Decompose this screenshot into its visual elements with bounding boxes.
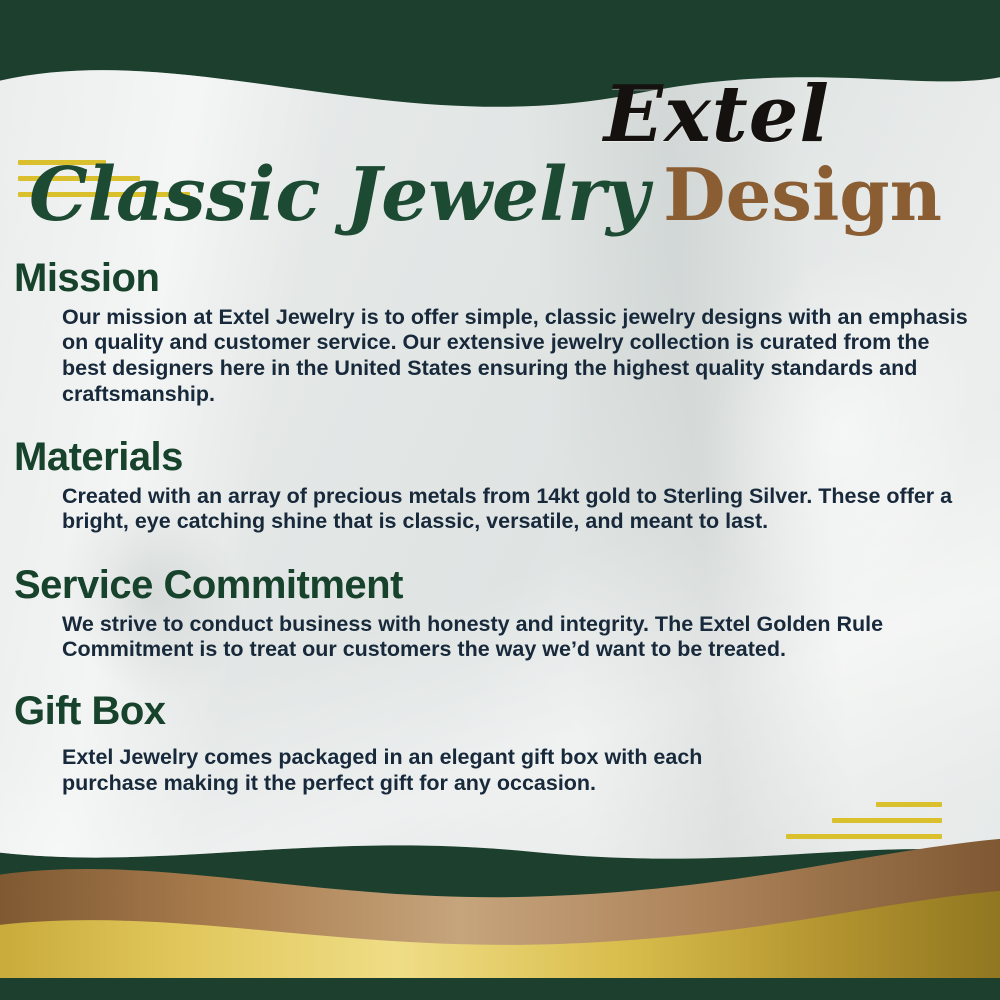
section-body: We strive to conduct business with hones… xyxy=(62,612,972,663)
section-body: Our mission at Extel Jewelry is to offer… xyxy=(62,305,972,407)
accent-line xyxy=(786,834,942,839)
section-title: Service Commitment xyxy=(14,563,974,608)
section-body: Extel Jewelry comes packaged in an elega… xyxy=(62,744,782,796)
poster-canvas: Extel Classic JewelryDesign Mission Our … xyxy=(0,0,1000,1000)
sections-container: Mission Our mission at Extel Jewelry is … xyxy=(14,256,974,806)
page-title-script: Classic Jewelry xyxy=(29,152,649,238)
section-title: Materials xyxy=(14,435,974,480)
section-title: Mission xyxy=(14,256,974,301)
section-service-commitment: Service Commitment We strive to conduct … xyxy=(14,563,974,663)
section-materials: Materials Created with an array of preci… xyxy=(14,435,974,535)
section-gift-box: Gift Box Extel Jewelry comes packaged in… xyxy=(14,689,974,796)
page-title: Classic JewelryDesign xyxy=(0,152,942,238)
section-mission: Mission Our mission at Extel Jewelry is … xyxy=(14,256,974,407)
page-title-serif: Design xyxy=(663,152,942,237)
accent-lines-bottom-right xyxy=(786,802,942,850)
section-title: Gift Box xyxy=(14,689,974,734)
brand-logo-text: Extel xyxy=(604,76,830,154)
accent-line xyxy=(832,818,942,823)
section-body: Created with an array of precious metals… xyxy=(62,484,972,535)
